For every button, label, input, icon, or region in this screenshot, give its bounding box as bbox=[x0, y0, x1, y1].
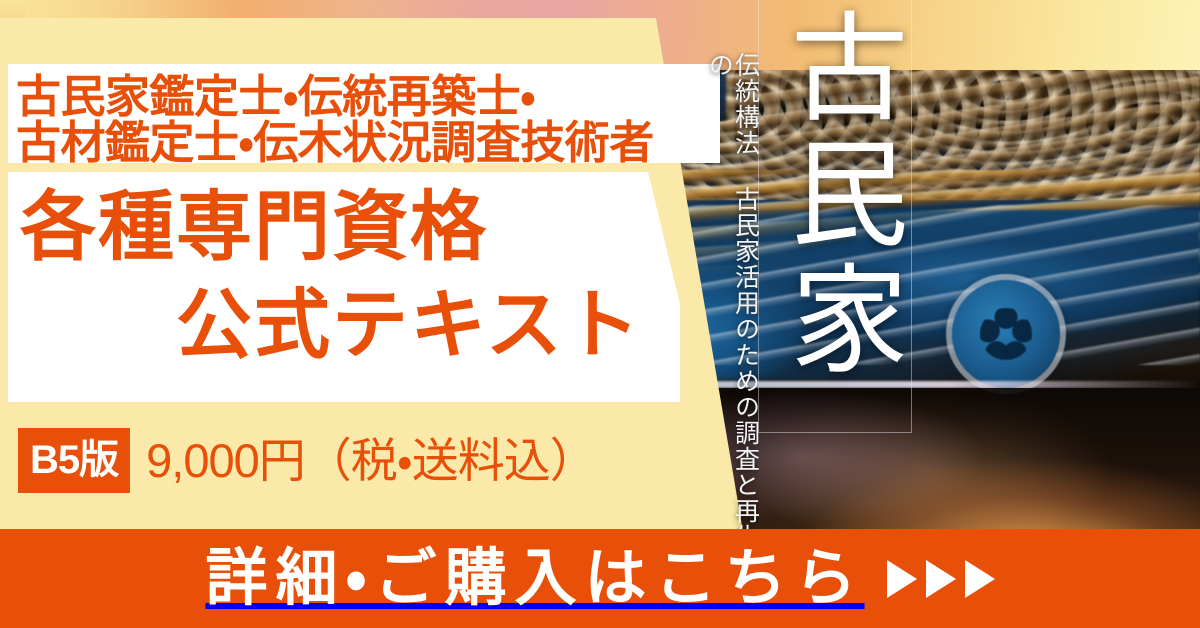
cta-label: 詳細・ご購入はこちら bbox=[205, 548, 864, 610]
family-crest-icon bbox=[952, 280, 1060, 388]
price-row: B5版 9,000円（税・送料込） bbox=[18, 428, 596, 493]
book-cover-title: 古民家 bbox=[766, 6, 906, 384]
price-text: 9,000円（税・送料込） bbox=[146, 437, 596, 484]
qualification-line-2: 古材鑑定士・伝木状況調査技術者 bbox=[16, 120, 654, 165]
size-badge: B5版 bbox=[18, 428, 130, 493]
product-title-line-1: 各種専門資格 bbox=[20, 190, 488, 266]
book-cover-subtitle: 伝統構法 古民家活用のための調査と再生の bbox=[706, 52, 759, 552]
promo-banner: 古民家鑑定士・伝統再築士・ 古材鑑定士・伝木状況調査技術者 各種専門資格 公式テ… bbox=[0, 0, 1200, 628]
cta-button[interactable]: 詳細・ご購入はこちら bbox=[0, 529, 1200, 628]
qualification-line-1: 古民家鑑定士・伝統再築士・ bbox=[16, 74, 535, 119]
product-title-line-2: 公式テキスト bbox=[176, 288, 642, 364]
triple-arrow-right-icon bbox=[887, 560, 995, 598]
